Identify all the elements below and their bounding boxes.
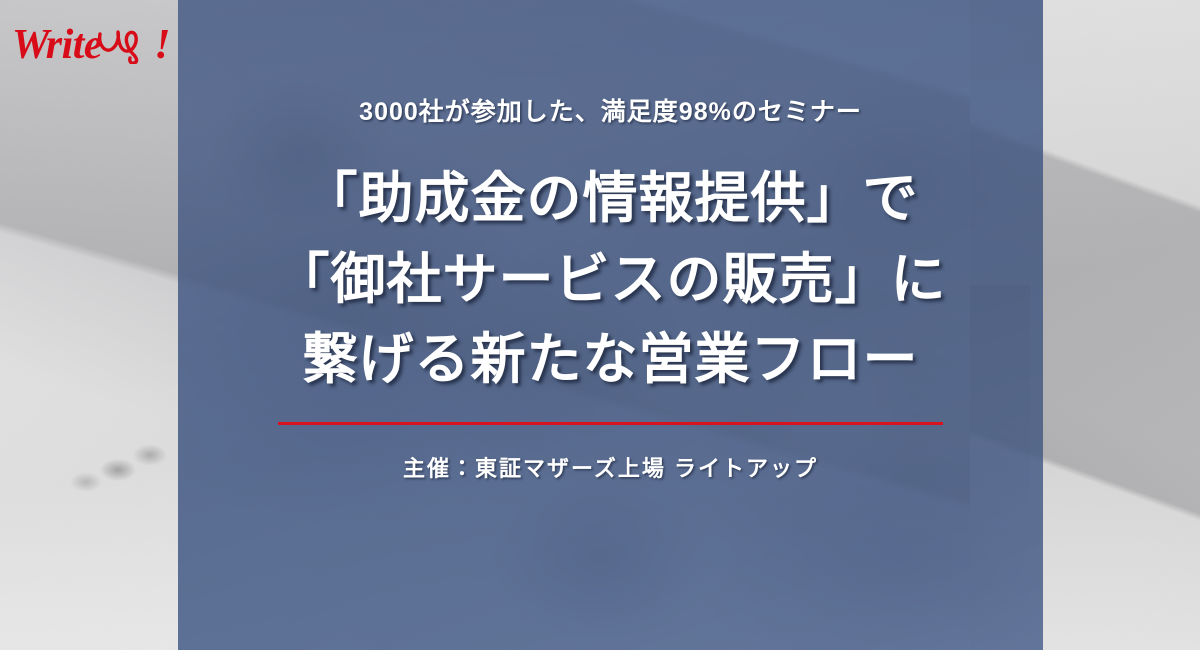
seminar-banner: Write ! 3000社が参加した、満足度98%のセミナー 「助成金の情報提供… — [0, 0, 1200, 650]
red-divider — [278, 422, 943, 425]
headline: 「助成金の情報提供」で 「御社サービスの販売」に 繋げる新たな営業フロー — [274, 162, 946, 396]
kicker-text: 3000社が参加した、満足度98%のセミナー — [359, 92, 862, 128]
headline-line-1: 「助成金の情報提供」で — [274, 162, 946, 235]
writeup-logo[interactable]: Write ! — [12, 22, 170, 68]
banner-content: 3000社が参加した、満足度98%のセミナー 「助成金の情報提供」で 「御社サー… — [178, 0, 1043, 650]
logo-wordmark: Write — [12, 24, 102, 66]
headline-line-3: 繋げる新たな営業フロー — [274, 323, 946, 396]
logo-exclamation: ! — [154, 24, 170, 66]
headline-line-2: 「御社サービスの販売」に — [274, 243, 946, 316]
host-text: 主催：東証マザーズ上場 ライトアップ — [403, 451, 818, 483]
logo-script-up-icon — [96, 22, 158, 69]
